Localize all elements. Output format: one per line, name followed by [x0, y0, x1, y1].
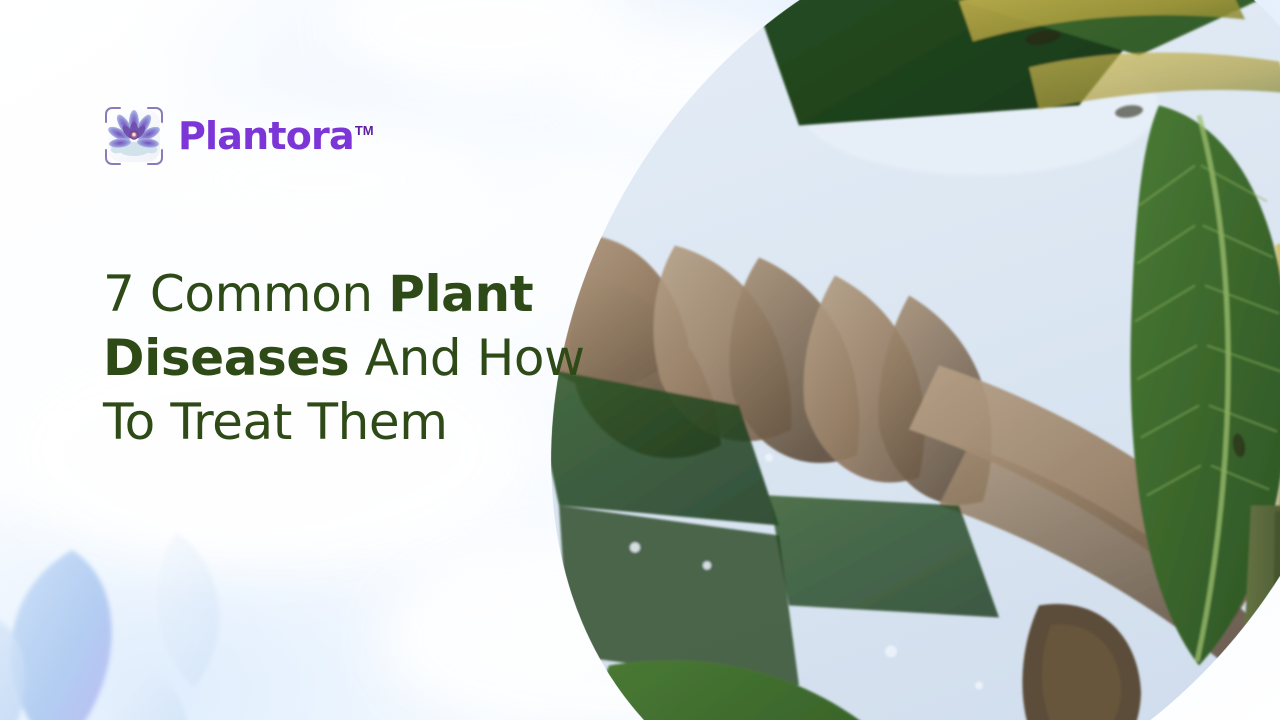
title-line2-normal: And How — [349, 329, 584, 387]
title-line1-normal: 7 Common — [103, 265, 388, 323]
title-line2-bold: Diseases — [103, 329, 349, 387]
brand-wordmark: PlantoraTM — [178, 117, 374, 155]
lotus-flower-scan-icon — [102, 104, 166, 168]
trademark-symbol: TM — [355, 123, 374, 138]
title-line1-bold: Plant — [388, 265, 533, 323]
title-line3-normal: To Treat Them — [103, 393, 448, 451]
presentation-slide: PlantoraTM 7 Common Plant Diseases And H… — [0, 0, 1280, 720]
brand-name-text: Plantora — [178, 114, 354, 158]
page-title: 7 Common Plant Diseases And How To Treat… — [103, 262, 663, 454]
brand-logo[interactable]: PlantoraTM — [102, 104, 374, 168]
